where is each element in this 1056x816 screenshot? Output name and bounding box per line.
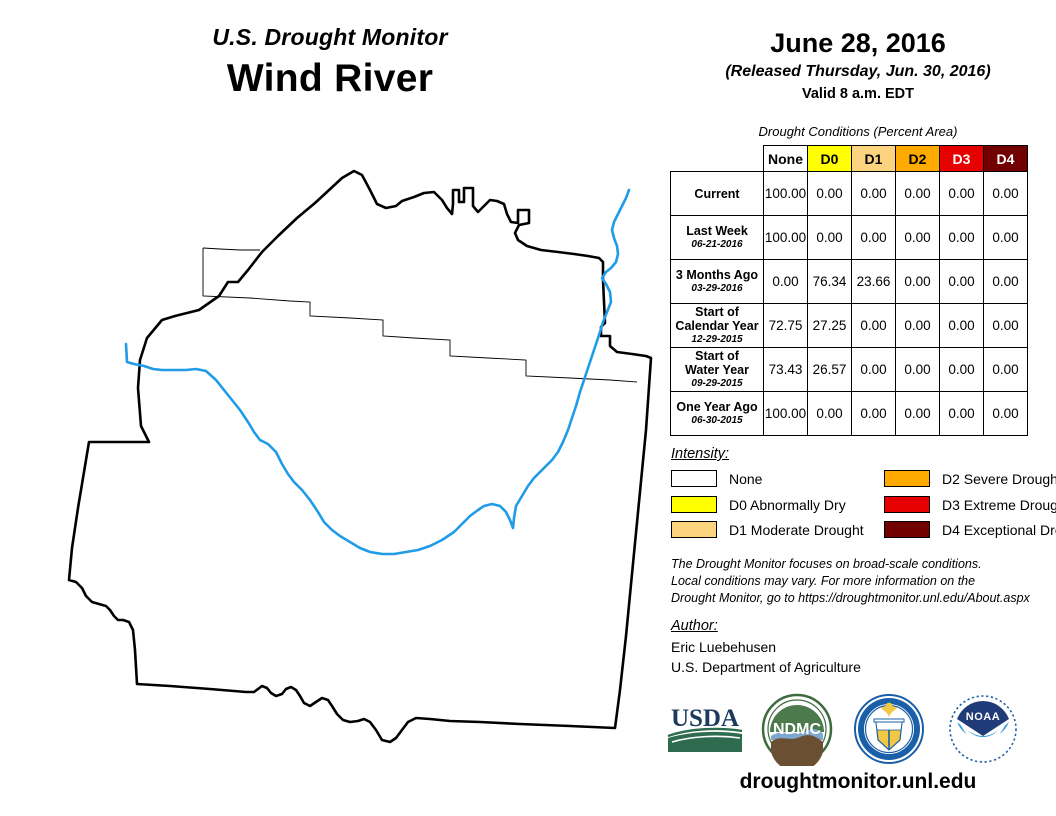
table-row: Start ofCalendar Year12-29-201572.7527.2… [671, 304, 1028, 348]
row-label-line: Water Year [671, 363, 763, 377]
cell-d3: 0.00 [940, 392, 984, 436]
table-row: Last Week06-21-2016100.000.000.000.000.0… [671, 216, 1028, 260]
legend-swatch-d2 [884, 470, 930, 487]
cell-none: 73.43 [764, 348, 808, 392]
row-label-line: Calendar Year [671, 319, 763, 333]
svg-text:NDMC: NDMC [773, 721, 821, 738]
legend-label-d3: D3 Extreme Drought [942, 497, 1056, 513]
table-caption: Drought Conditions (Percent Area) [660, 124, 1056, 139]
cell-d4: 0.00 [984, 348, 1028, 392]
row-label-date: 06-21-2016 [671, 239, 763, 250]
row-label-date: 12-29-2015 [671, 334, 763, 345]
noaa-logo[interactable]: NOAA [946, 692, 1020, 771]
cell-d1: 23.66 [852, 260, 896, 304]
row-label: 3 Months Ago03-29-2016 [671, 260, 764, 304]
author-name: Eric Luebehusen [671, 637, 861, 657]
cell-none: 0.00 [764, 260, 808, 304]
cell-d1: 0.00 [852, 348, 896, 392]
cell-d3: 0.00 [940, 172, 984, 216]
row-label-date: 09-29-2015 [671, 378, 763, 389]
interior-county-line-upper [203, 248, 260, 250]
table-row: Start ofWater Year09-29-201573.4326.570.… [671, 348, 1028, 392]
legend-label-d0: D0 Abnormally Dry [729, 497, 846, 513]
cell-d1: 0.00 [852, 304, 896, 348]
usdc-seal-svg [852, 692, 926, 766]
cell-d0: 0.00 [808, 392, 852, 436]
legend-item-d2: D2 Severe Drought [884, 470, 1056, 487]
cell-none: 100.00 [764, 216, 808, 260]
author-organization: U.S. Department of Agriculture [671, 657, 861, 677]
drought-conditions-table: None D0 D1 D2 D3 D4 Current100.000.000.0… [670, 145, 1028, 436]
cell-d3: 0.00 [940, 304, 984, 348]
map-title: Wind River [0, 57, 660, 101]
legend-label-none: None [729, 471, 762, 487]
legend-swatch-d3 [884, 496, 930, 513]
usda-logo[interactable]: USDA [666, 700, 744, 763]
reservation-boundary [69, 171, 651, 742]
row-label-line: Start of [671, 349, 763, 363]
site-url[interactable]: droughtmonitor.unl.edu [660, 770, 1056, 794]
row-label-date: 03-29-2016 [671, 283, 763, 294]
disclaimer-line-2: Local conditions may vary. For more info… [671, 573, 1051, 590]
cell-d0: 27.25 [808, 304, 852, 348]
legend-label-d1: D1 Moderate Drought [729, 522, 864, 538]
table-row: 3 Months Ago03-29-20160.0076.3423.660.00… [671, 260, 1028, 304]
valid-time: Valid 8 a.m. EDT [660, 86, 1056, 102]
cell-d3: 0.00 [940, 260, 984, 304]
svg-text:USDA: USDA [671, 705, 739, 732]
cell-d1: 0.00 [852, 216, 896, 260]
legend-label-d2: D2 Severe Drought [942, 471, 1056, 487]
cell-d2: 0.00 [896, 304, 940, 348]
col-header-d1: D1 [852, 146, 896, 172]
col-header-d3: D3 [940, 146, 984, 172]
cell-d1: 0.00 [852, 392, 896, 436]
cell-none: 72.75 [764, 304, 808, 348]
cell-d0: 26.57 [808, 348, 852, 392]
col-header-d0: D0 [808, 146, 852, 172]
cell-d4: 0.00 [984, 260, 1028, 304]
cell-d1: 0.00 [852, 172, 896, 216]
svg-text:NOAA: NOAA [966, 711, 1000, 723]
table-row: One Year Ago06-30-2015100.000.000.000.00… [671, 392, 1028, 436]
table-header-row: None D0 D1 D2 D3 D4 [671, 146, 1028, 172]
cell-d3: 0.00 [940, 348, 984, 392]
row-label: Start ofWater Year09-29-2015 [671, 348, 764, 392]
legend-swatch-d4 [884, 521, 930, 538]
usda-logo-svg: USDA [666, 700, 744, 758]
ndmc-logo-svg: NDMC [760, 692, 834, 766]
cell-d4: 0.00 [984, 304, 1028, 348]
legend-swatch-none [671, 470, 717, 487]
map-title-subtitle: U.S. Drought Monitor [0, 24, 660, 51]
author-heading: Author: [671, 618, 718, 634]
legend-item-d3: D3 Extreme Drought [884, 496, 1056, 513]
row-label: Last Week06-21-2016 [671, 216, 764, 260]
row-label: Start ofCalendar Year12-29-2015 [671, 304, 764, 348]
cell-d0: 0.00 [808, 216, 852, 260]
cell-d0: 76.34 [808, 260, 852, 304]
release-date: (Released Thursday, Jun. 30, 2016) [660, 63, 1056, 81]
col-header-none: None [764, 146, 808, 172]
row-label: One Year Ago06-30-2015 [671, 392, 764, 436]
legend-swatch-d1 [671, 521, 717, 538]
disclaimer-line-1: The Drought Monitor focuses on broad-sca… [671, 556, 1051, 573]
drought-map[interactable] [10, 130, 660, 750]
date-block: June 28, 2016 (Released Thursday, Jun. 3… [660, 28, 1056, 102]
intensity-heading: Intensity: [671, 446, 729, 462]
noaa-logo-svg: NOAA [946, 692, 1020, 766]
agency-logos: USDA NDMC [660, 690, 1056, 768]
table-header: None D0 D1 D2 D3 D4 [671, 146, 1028, 172]
cell-d4: 0.00 [984, 172, 1028, 216]
map-title-block: U.S. Drought Monitor Wind River [0, 24, 660, 101]
row-label-date: 06-30-2015 [671, 415, 763, 426]
cell-d0: 0.00 [808, 172, 852, 216]
legend-swatch-d0 [671, 496, 717, 513]
legend-item-d1: D1 Moderate Drought [671, 521, 864, 538]
col-header-d4: D4 [984, 146, 1028, 172]
disclaimer-text: The Drought Monitor focuses on broad-sca… [671, 556, 1051, 607]
row-label-line: Start of [671, 305, 763, 319]
table-body: Current100.000.000.000.000.000.00Last We… [671, 172, 1028, 436]
cell-d3: 0.00 [940, 216, 984, 260]
cell-d2: 0.00 [896, 172, 940, 216]
cell-d2: 0.00 [896, 260, 940, 304]
cell-d4: 0.00 [984, 392, 1028, 436]
row-label-line: 3 Months Ago [671, 268, 763, 282]
valid-date: June 28, 2016 [660, 28, 1056, 59]
row-label: Current [671, 172, 764, 216]
cell-none: 100.00 [764, 172, 808, 216]
row-label-line: One Year Ago [671, 400, 763, 414]
ndmc-logo[interactable]: NDMC [760, 692, 834, 771]
col-header-d2: D2 [896, 146, 940, 172]
disclaimer-line-3: Drought Monitor, go to https://droughtmo… [671, 590, 1051, 607]
author-block: Eric Luebehusen U.S. Department of Agric… [671, 637, 861, 678]
table-row: Current100.000.000.000.000.000.00 [671, 172, 1028, 216]
legend-item-d4: D4 Exceptional Drought [884, 521, 1056, 538]
table-corner-cell [671, 146, 764, 172]
usdc-seal-logo[interactable] [852, 692, 926, 771]
cell-d2: 0.00 [896, 348, 940, 392]
legend-item-d0: D0 Abnormally Dry [671, 496, 846, 513]
cell-none: 100.00 [764, 392, 808, 436]
cell-d2: 0.00 [896, 392, 940, 436]
map-svg [10, 130, 660, 750]
row-label-line: Current [671, 187, 763, 201]
row-label-line: Last Week [671, 224, 763, 238]
legend-label-d4: D4 Exceptional Drought [942, 522, 1056, 538]
legend-item-none: None [671, 470, 762, 487]
cell-d4: 0.00 [984, 216, 1028, 260]
cell-d2: 0.00 [896, 216, 940, 260]
